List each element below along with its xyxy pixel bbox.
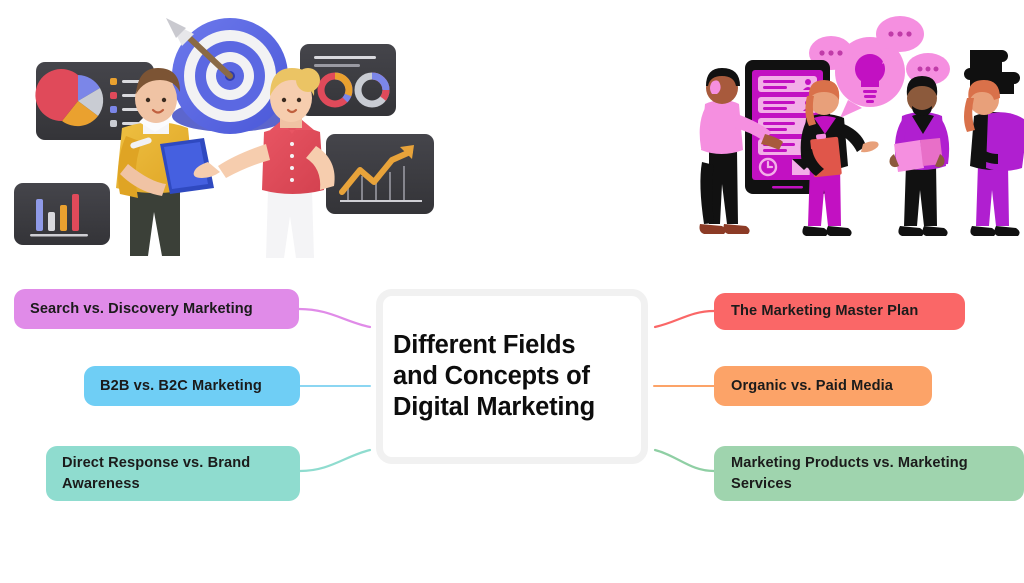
branch-left-b2b-vs-b2c[interactable]: B2B vs. B2C Marketing [84,366,300,406]
woman-with-puzzle [964,80,1024,236]
connector-right-3 [655,450,714,471]
center-title: Different Fields and Concepts of Digital… [383,330,641,423]
connector-left-3 [300,450,370,471]
right-illustration [688,4,1024,262]
center-title-line-1: Different Fields [393,330,641,361]
center-title-line-3: Digital Marketing [393,392,641,423]
branch-label: The Marketing Master Plan [731,301,918,322]
infographic-canvas: Search vs. Discovery Marketing B2B vs. B… [0,0,1024,583]
bar-chart-card [14,183,110,245]
growth-chart-card [326,134,434,214]
center-title-line-2: and Concepts of [393,361,641,392]
branch-left-search-vs-discovery[interactable]: Search vs. Discovery Marketing [14,289,299,329]
branch-left-direct-response-vs-brand-awareness[interactable]: Direct Response vs. Brand Awareness [46,446,300,501]
branch-right-marketing-master-plan[interactable]: The Marketing Master Plan [714,293,965,330]
branch-right-marketing-products-vs-services[interactable]: Marketing Products vs. Marketing Service… [714,446,1024,501]
branch-label: B2B vs. B2C Marketing [100,376,262,397]
left-illustration [8,4,458,262]
connector-left-1 [299,309,370,327]
branch-label: Organic vs. Paid Media [731,376,893,397]
connector-right-1 [655,311,714,327]
center-node[interactable]: Different Fields and Concepts of Digital… [376,289,648,464]
branch-right-organic-vs-paid-media[interactable]: Organic vs. Paid Media [714,366,932,406]
target-dartboard-icon [166,18,288,134]
branch-label: Direct Response vs. Brand Awareness [62,453,284,494]
branch-label: Search vs. Discovery Marketing [30,299,253,320]
man-with-folder [890,76,950,236]
branch-label: Marketing Products vs. Marketing Service… [731,453,1007,494]
